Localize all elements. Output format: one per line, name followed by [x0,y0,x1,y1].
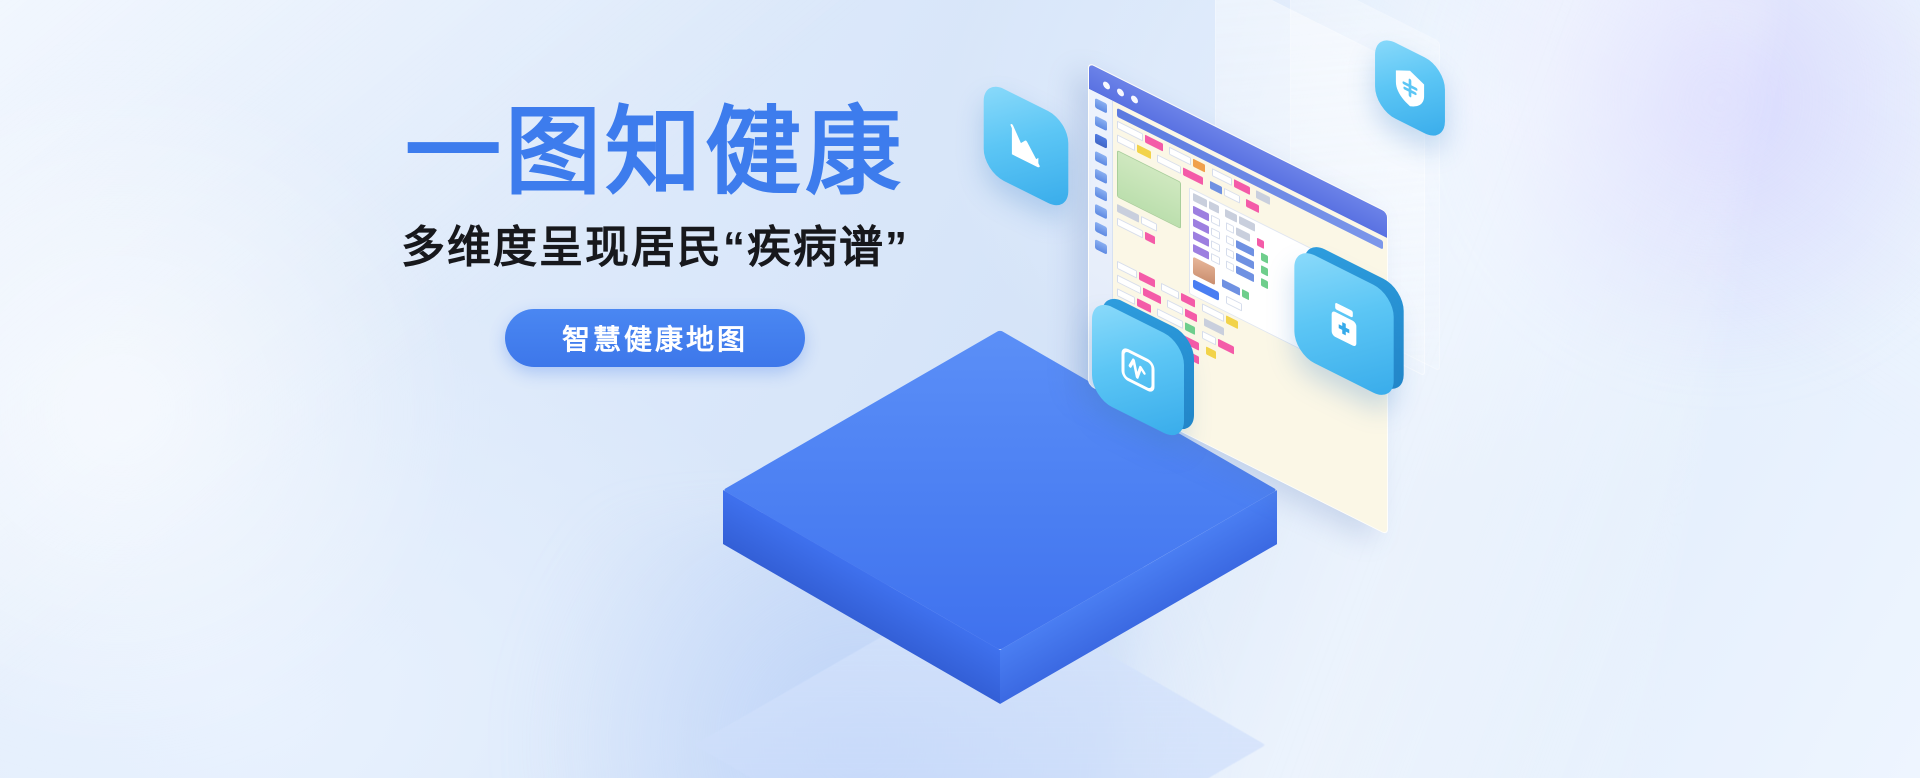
ecg-icon [1088,320,1188,420]
chart-icon [980,100,1072,192]
shield-icon [1372,50,1448,126]
sidebar-item-icon[interactable] [1095,239,1107,255]
health-map-banner: 一图知健康 多维度呈现居民“疾病谱” 智慧健康地图 [0,0,1920,778]
sidebar-item-icon[interactable] [1095,98,1107,114]
sidebar-item-icon[interactable] [1095,115,1107,131]
sidebar-item-icon[interactable] [1095,203,1107,219]
smart-health-map-button[interactable]: 智慧健康地图 [505,309,805,367]
window-dot-icon [1117,87,1124,97]
page-subtitle: 多维度呈现居民“疾病谱” [345,222,965,275]
window-dot-icon [1131,94,1138,104]
window-dot-icon [1103,80,1110,90]
sidebar-item-icon[interactable] [1095,151,1107,167]
isometric-illustration [960,0,1920,778]
sidebar-item-icon[interactable] [1095,186,1107,202]
sidebar-item-icon[interactable] [1095,168,1107,184]
page-title: 一图知健康 [345,104,965,202]
cta-container: 智慧健康地图 [345,309,965,367]
medicine-icon [1290,270,1398,378]
sidebar-item-icon-selected[interactable] [1095,133,1107,149]
banner-copy: 一图知健康 多维度呈现居民“疾病谱” 智慧健康地图 [345,104,965,367]
sidebar-item-icon[interactable] [1095,221,1107,237]
